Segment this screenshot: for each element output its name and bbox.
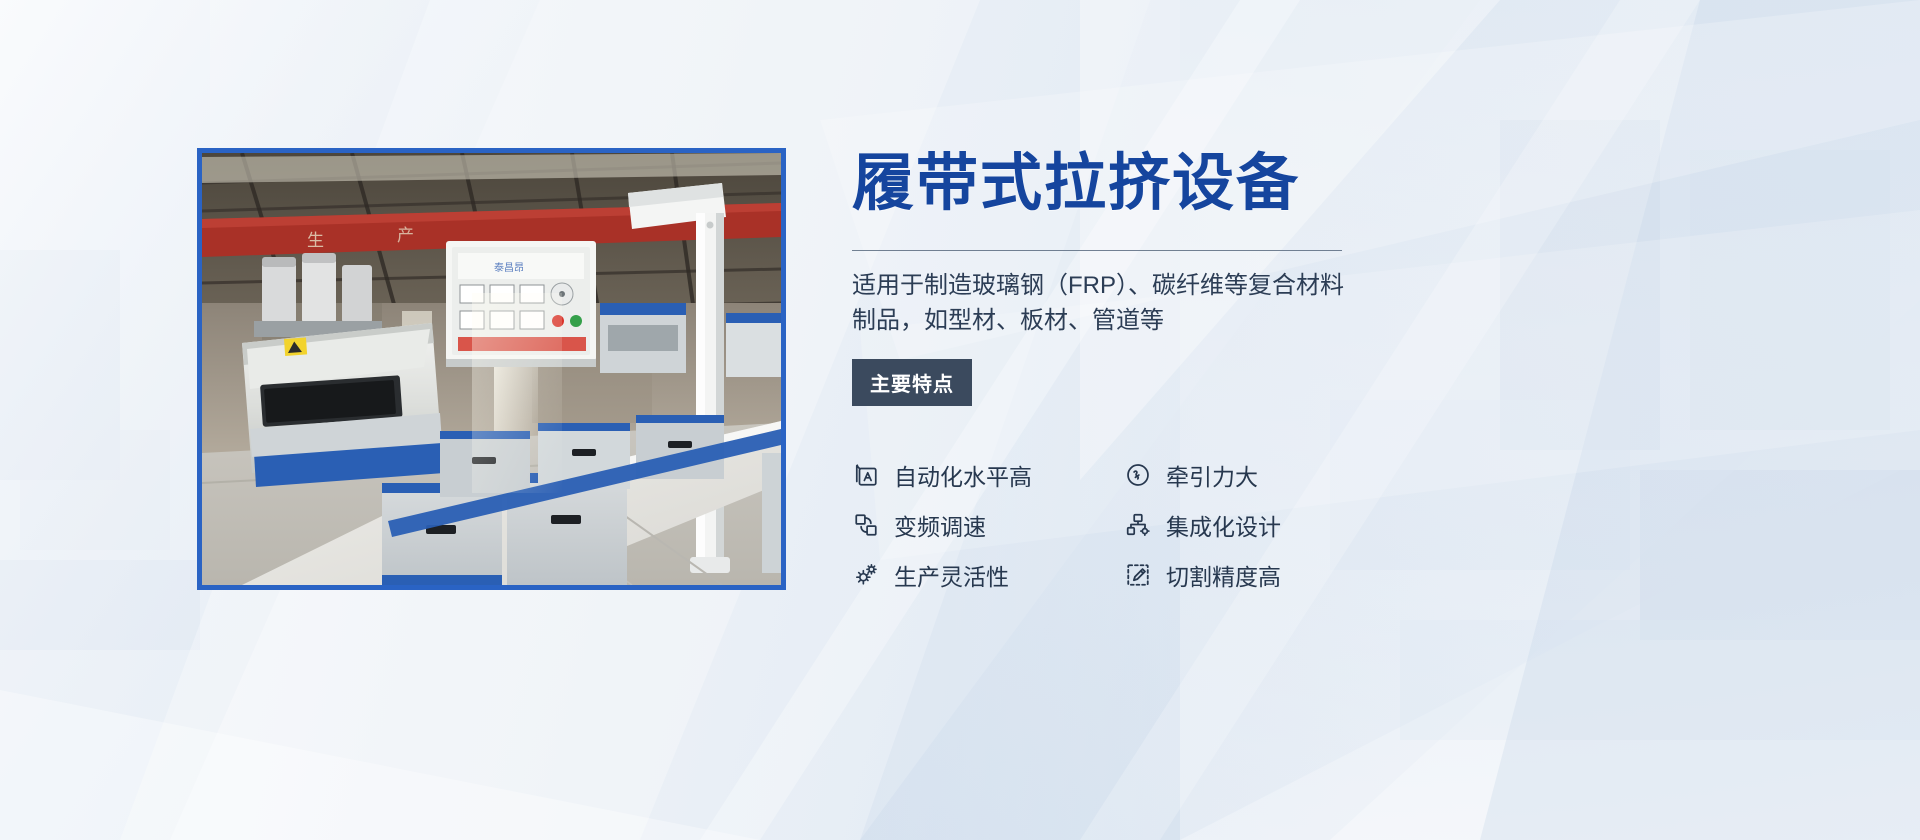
frequency-convert-icon	[852, 511, 880, 539]
wave-circle-icon	[1124, 461, 1152, 489]
status-badge: 主要特点	[852, 359, 972, 406]
banner-content: 履带式拉挤设备 适用于制造玻璃钢（FRP）、碳纤维等复合材料制品，如型材、板材、…	[852, 150, 1352, 600]
feature-item[interactable]: 牵引力大	[1124, 450, 1396, 500]
feature-label: 集成化设计	[1166, 508, 1281, 542]
gears-icon	[852, 561, 880, 589]
feature-label: 牵引力大	[1166, 458, 1258, 492]
feature-list: 自动化水平高 牵引力大	[852, 450, 1352, 600]
product-banner: 生 产	[0, 0, 1920, 840]
feature-item[interactable]: 自动化水平高	[852, 450, 1124, 500]
feature-label: 变频调速	[894, 508, 986, 542]
svg-text:泰昌昂: 泰昌昂	[494, 261, 524, 274]
feature-label: 生产灵活性	[894, 558, 1009, 592]
sitemap-gear-icon	[1124, 511, 1152, 539]
product-photo: 生 产	[202, 153, 781, 585]
feature-label: 自动化水平高	[894, 458, 1032, 492]
title-divider	[852, 250, 1342, 251]
feature-label: 切割精度高	[1166, 558, 1281, 592]
page-title: 履带式拉挤设备	[852, 150, 1352, 224]
feature-item[interactable]: 变频调速	[852, 500, 1124, 550]
feature-item[interactable]: 生产灵活性	[852, 550, 1124, 600]
letter-a-box-icon	[852, 461, 880, 489]
svg-text:生: 生	[307, 231, 324, 251]
feature-item[interactable]: 集成化设计	[1124, 500, 1396, 550]
feature-item[interactable]: 切割精度高	[1124, 550, 1396, 600]
subtitle-text: 适用于制造玻璃钢（FRP）、碳纤维等复合材料制品，如型材、板材、管道等	[852, 269, 1344, 339]
pen-dashed-box-icon	[1124, 561, 1152, 589]
svg-text:产: 产	[397, 226, 414, 246]
product-photo-frame[interactable]: 生 产	[197, 148, 786, 590]
